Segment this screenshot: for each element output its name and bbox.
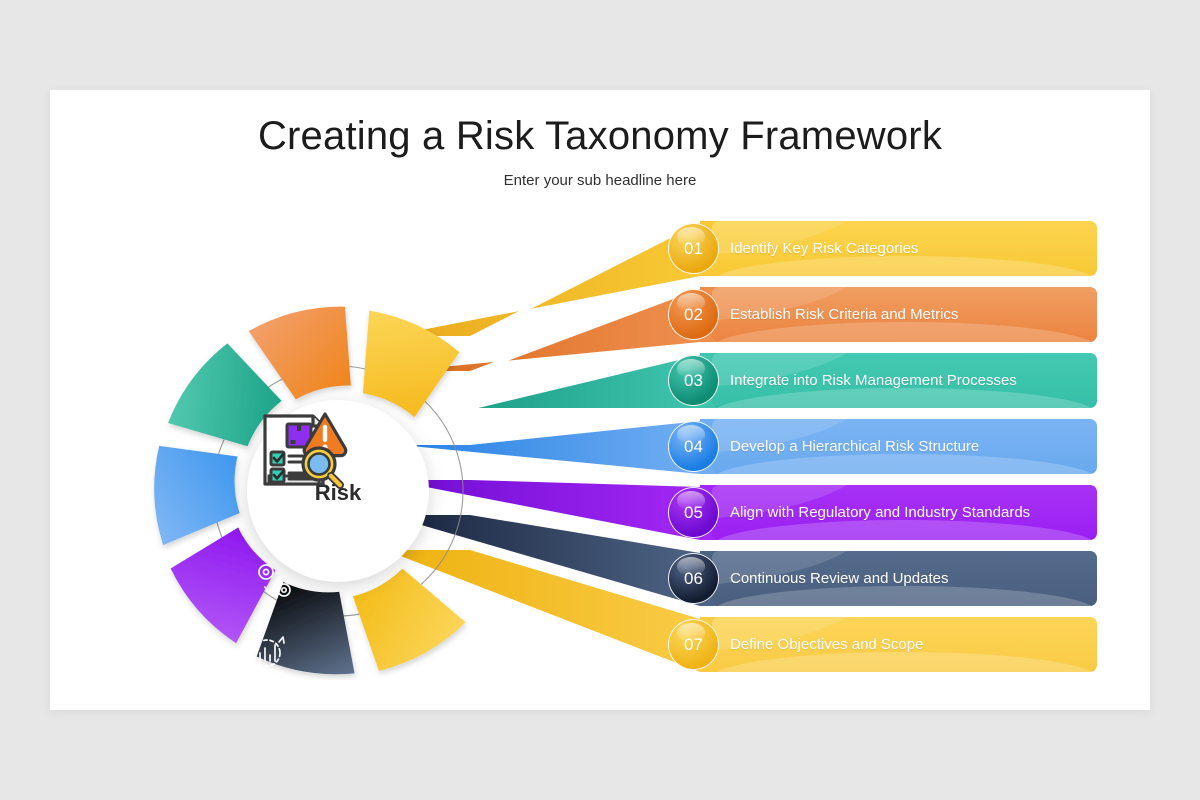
step-bar[interactable]: Integrate into Risk Management Processes bbox=[712, 353, 1097, 408]
step-number: 04 bbox=[684, 437, 703, 457]
step-number: 07 bbox=[684, 635, 703, 655]
step-bar[interactable]: Develop a Hierarchical Risk Structure bbox=[712, 419, 1097, 474]
steps-list: Identify Key Risk Categories 01 Establis… bbox=[640, 215, 1140, 675]
list-item[interactable]: Define Objectives and Scope 07 bbox=[640, 617, 1140, 672]
step-label: Establish Risk Criteria and Metrics bbox=[730, 287, 958, 342]
step-number: 06 bbox=[684, 569, 703, 589]
page-title: Creating a Risk Taxonomy Framework bbox=[50, 114, 1150, 159]
step-number: 02 bbox=[684, 305, 703, 325]
step-badge[interactable]: 05 bbox=[668, 487, 719, 538]
step-bar[interactable]: Align with Regulatory and Industry Stand… bbox=[712, 485, 1097, 540]
step-badge[interactable]: 07 bbox=[668, 619, 719, 670]
step-number: 01 bbox=[684, 239, 703, 259]
step-label: Integrate into Risk Management Processes bbox=[730, 353, 1017, 408]
list-item[interactable]: Identify Key Risk Categories 01 bbox=[640, 221, 1140, 276]
step-label: Continuous Review and Updates bbox=[730, 551, 948, 606]
slide-canvas: Creating a Risk Taxonomy Framework Enter… bbox=[50, 90, 1150, 710]
step-badge[interactable]: 06 bbox=[668, 553, 719, 604]
step-label: Define Objectives and Scope bbox=[730, 617, 923, 672]
step-badge[interactable]: 01 bbox=[668, 223, 719, 274]
risk-wheel: ? bbox=[95, 200, 515, 680]
list-item[interactable]: Align with Regulatory and Industry Stand… bbox=[640, 485, 1140, 540]
step-label: Identify Key Risk Categories bbox=[730, 221, 918, 276]
list-item[interactable]: Develop a Hierarchical Risk Structure 04 bbox=[640, 419, 1140, 474]
step-bar[interactable]: Identify Key Risk Categories bbox=[712, 221, 1097, 276]
step-label: Align with Regulatory and Industry Stand… bbox=[730, 485, 1030, 540]
step-badge[interactable]: 03 bbox=[668, 355, 719, 406]
step-number: 05 bbox=[684, 503, 703, 523]
step-bar[interactable]: Continuous Review and Updates bbox=[712, 551, 1097, 606]
risk-checklist-warning-magnifier-icon bbox=[247, 400, 359, 496]
step-bar[interactable]: Define Objectives and Scope bbox=[712, 617, 1097, 672]
page-subtitle: Enter your sub headline here bbox=[50, 172, 1150, 189]
step-number: 03 bbox=[684, 371, 703, 391]
list-item[interactable]: Establish Risk Criteria and Metrics 02 bbox=[640, 287, 1140, 342]
center-disc: Risk bbox=[247, 400, 429, 582]
list-item[interactable]: Continuous Review and Updates 06 bbox=[640, 551, 1140, 606]
step-label: Develop a Hierarchical Risk Structure bbox=[730, 419, 979, 474]
step-badge[interactable]: 04 bbox=[668, 421, 719, 472]
step-bar[interactable]: Establish Risk Criteria and Metrics bbox=[712, 287, 1097, 342]
step-badge[interactable]: 02 bbox=[668, 289, 719, 340]
list-item[interactable]: Integrate into Risk Management Processes… bbox=[640, 353, 1140, 408]
